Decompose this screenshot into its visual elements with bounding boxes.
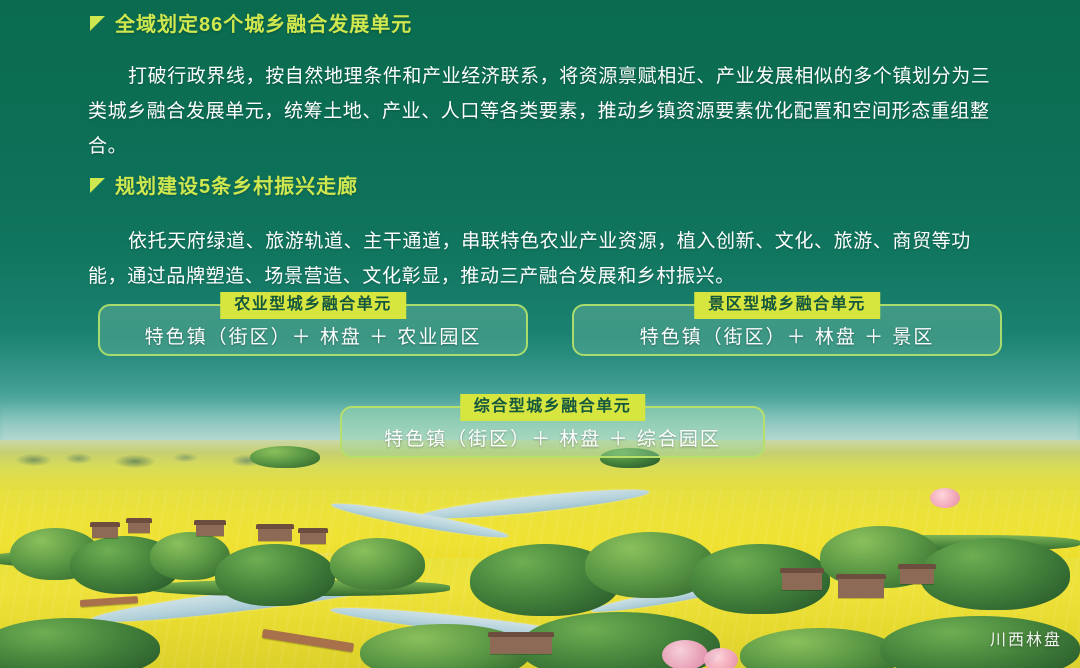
section-paragraph-2: 依托天府绿道、旅游轨道、主干通道，串联特色农业产业资源，植入创新、文化、旅游、商… <box>88 224 1004 294</box>
unit-badge-comprehensive: 综合型城乡融合单元 <box>460 394 646 421</box>
section-paragraph-1: 打破行政界线，按自然地理条件和产业经济联系，将资源禀赋相近、产业发展相似的多个镇… <box>88 59 1004 164</box>
image-watermark: 川西林盘 <box>990 626 1062 650</box>
section-heading-2: 规划建设5条乡村振兴走廊 <box>90 170 358 199</box>
section-heading-2-text: 规划建设5条乡村振兴走廊 <box>115 170 358 199</box>
unit-badge-agricultural: 农业型城乡融合单元 <box>220 292 406 319</box>
slide-content: 全域划定86个城乡融合发展单元 打破行政界线，按自然地理条件和产业经济联系，将资… <box>0 0 1080 668</box>
unit-badge-scenic: 景区型城乡融合单元 <box>694 292 880 319</box>
triangle-marker-icon <box>90 16 105 31</box>
triangle-marker-icon <box>90 178 105 193</box>
section-heading-1-text: 全域划定86个城乡融合发展单元 <box>115 8 412 37</box>
section-heading-1: 全域划定86个城乡融合发展单元 <box>90 8 412 37</box>
slide-root: 全域划定86个城乡融合发展单元 打破行政界线，按自然地理条件和产业经济联系，将资… <box>0 0 1080 668</box>
